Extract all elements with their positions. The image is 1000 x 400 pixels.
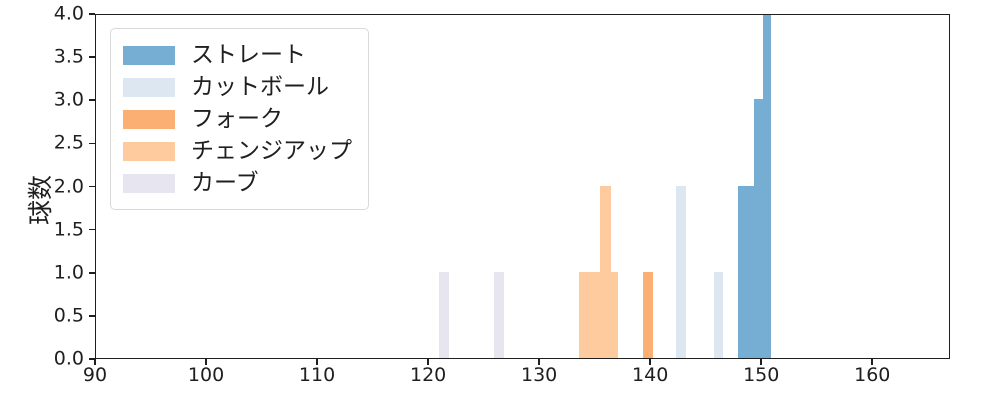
histogram-bar xyxy=(754,99,763,358)
y-tick-label: 0.0 xyxy=(54,350,84,369)
histogram-bar xyxy=(643,272,653,358)
y-tick-label: 2.5 xyxy=(54,134,84,153)
y-tick-label: 1.5 xyxy=(54,220,84,239)
legend-item[interactable]: チェンジアップ xyxy=(123,135,352,167)
y-tick-label: 1.0 xyxy=(54,263,84,282)
legend-color-swatch xyxy=(123,174,175,193)
x-tick-label: 120 xyxy=(410,366,446,385)
histogram-figure: 球数 0.00.51.01.52.02.53.03.54.0 901001101… xyxy=(0,0,1000,400)
legend-label: カーブ xyxy=(191,172,259,195)
x-tick-label: 130 xyxy=(521,366,557,385)
legend: ストレートカットボールフォークチェンジアップカーブ xyxy=(110,28,369,210)
legend-label: チェンジアップ xyxy=(191,140,352,163)
x-tick-label: 90 xyxy=(83,366,107,385)
legend-color-swatch xyxy=(123,78,175,97)
histogram-bar xyxy=(714,272,723,358)
legend-color-swatch xyxy=(123,110,175,129)
histogram-bar xyxy=(600,186,611,359)
y-tick-label: 0.5 xyxy=(54,306,84,325)
histogram-bar xyxy=(738,186,755,359)
legend-label: ストレート xyxy=(191,44,306,67)
legend-item[interactable]: ストレート xyxy=(123,39,352,71)
histogram-bar xyxy=(579,272,618,358)
histogram-bar xyxy=(676,186,686,359)
legend-item[interactable]: カットボール xyxy=(123,71,352,103)
y-tick-label: 4.0 xyxy=(54,5,84,24)
histogram-bar xyxy=(763,15,771,358)
y-tick-label: 3.0 xyxy=(54,91,84,110)
x-tick-label: 150 xyxy=(743,366,779,385)
legend-label: フォーク xyxy=(191,108,283,131)
x-tick-label: 140 xyxy=(632,366,668,385)
legend-color-swatch xyxy=(123,142,175,161)
x-tick-label: 100 xyxy=(188,366,224,385)
y-tick-label: 3.5 xyxy=(54,48,84,67)
y-tick-label: 2.0 xyxy=(54,177,84,196)
legend-color-swatch xyxy=(123,46,175,65)
x-tick-label: 110 xyxy=(299,366,335,385)
y-axis-title: 球数 xyxy=(21,175,57,225)
legend-item[interactable]: フォーク xyxy=(123,103,352,135)
histogram-bar xyxy=(439,272,449,358)
histogram-bar xyxy=(494,272,504,358)
legend-label: カットボール xyxy=(191,76,329,99)
legend-item[interactable]: カーブ xyxy=(123,167,352,199)
x-tick-label: 160 xyxy=(854,366,890,385)
